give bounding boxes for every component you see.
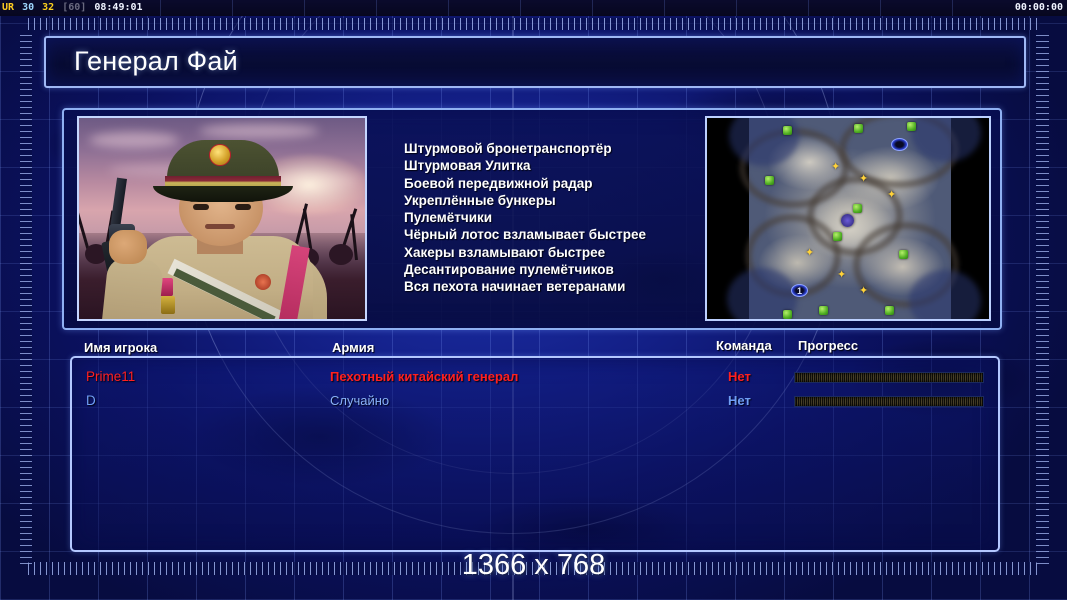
start-position-2 bbox=[891, 138, 908, 151]
supply-dock-icon bbox=[833, 232, 842, 241]
ability-item: Боевой передвижной радар bbox=[404, 175, 704, 192]
supply-dock-icon bbox=[899, 250, 908, 259]
ability-item: Штурмовая Улитка bbox=[404, 157, 704, 174]
ability-item: Вся пехота начинает ветеранами bbox=[404, 278, 704, 295]
os-value-1: 30 bbox=[20, 2, 34, 13]
os-value-2: 32 bbox=[40, 2, 54, 13]
ability-item: Хакеры взламывают быстрее bbox=[404, 244, 704, 261]
supply-dock-icon bbox=[819, 306, 828, 315]
page-title: Генерал Фай bbox=[74, 46, 238, 77]
player-progress-bar bbox=[794, 396, 984, 407]
title-panel: Генерал Фай bbox=[44, 36, 1026, 88]
game-screen: UR 30 32 [60] 08:49:01 00:00:00 Генерал … bbox=[0, 0, 1067, 600]
player-name: Prime11 bbox=[86, 369, 135, 384]
ability-item: Десантирование пулемётчиков bbox=[404, 261, 704, 278]
table-row[interactable]: Prime11 Пехотный китайский генерал Нет bbox=[72, 367, 1002, 390]
player-progress-bar bbox=[794, 372, 984, 383]
ability-item: Штурмовой бронетранспортёр bbox=[404, 140, 704, 157]
supply-dock-icon bbox=[783, 310, 792, 319]
supply-dock-icon bbox=[907, 122, 916, 131]
player-team: Нет bbox=[728, 393, 751, 408]
general-portrait bbox=[77, 116, 367, 321]
center-objective-icon bbox=[841, 214, 854, 227]
supply-dock-icon bbox=[853, 204, 862, 213]
ability-item: Чёрный лотос взламывает быстрее bbox=[404, 226, 704, 243]
player-name: D bbox=[86, 393, 96, 408]
resolution-label: 1366 x 768 bbox=[0, 549, 1067, 582]
os-label: UR bbox=[0, 2, 14, 13]
minimap[interactable]: ✦ ✦ ✦ ✦ ✦ ✦ 1 bbox=[705, 116, 991, 321]
player-army: Случайно bbox=[330, 393, 389, 408]
header-army: Армия bbox=[332, 340, 374, 355]
cap-badge-icon bbox=[209, 144, 231, 166]
ruler-left bbox=[20, 30, 32, 564]
player-army: Пехотный китайский генерал bbox=[330, 369, 518, 384]
ruler-top bbox=[28, 18, 1040, 30]
player-table-headers: Имя игрока Армия Команда Прогресс bbox=[62, 338, 1002, 358]
ability-item: Укреплённые бункеры bbox=[404, 192, 704, 209]
table-row[interactable]: D Случайно Нет bbox=[72, 391, 1002, 414]
os-value-3: [60] bbox=[60, 2, 86, 13]
os-status-bar: UR 30 32 [60] 08:49:01 00:00:00 bbox=[0, 0, 1067, 16]
os-session-time: 08:49:01 bbox=[92, 2, 142, 13]
os-clock: 00:00:00 bbox=[1015, 0, 1063, 16]
medal-icon bbox=[161, 296, 175, 314]
supply-dock-icon bbox=[885, 306, 894, 315]
player-team: Нет bbox=[728, 369, 751, 384]
general-info-panel: Штурмовой бронетранспортёр Штурмовая Ули… bbox=[62, 108, 1002, 330]
medal-icon bbox=[255, 274, 271, 290]
ability-item: Пулемётчики bbox=[404, 209, 704, 226]
header-player-name: Имя игрока bbox=[84, 340, 157, 355]
minimap-terrain: ✦ ✦ ✦ ✦ ✦ ✦ 1 bbox=[749, 118, 951, 319]
header-progress: Прогресс bbox=[798, 338, 858, 353]
supply-dock-icon bbox=[854, 124, 863, 133]
player-table: Prime11 Пехотный китайский генерал Нет D… bbox=[70, 356, 1000, 552]
abilities-list: Штурмовой бронетранспортёр Штурмовая Ули… bbox=[404, 140, 704, 296]
header-team: Команда bbox=[716, 338, 772, 353]
supply-dock-icon bbox=[765, 176, 774, 185]
supply-dock-icon bbox=[783, 126, 792, 135]
ruler-right bbox=[1036, 30, 1049, 564]
start-position-1: 1 bbox=[791, 284, 808, 297]
